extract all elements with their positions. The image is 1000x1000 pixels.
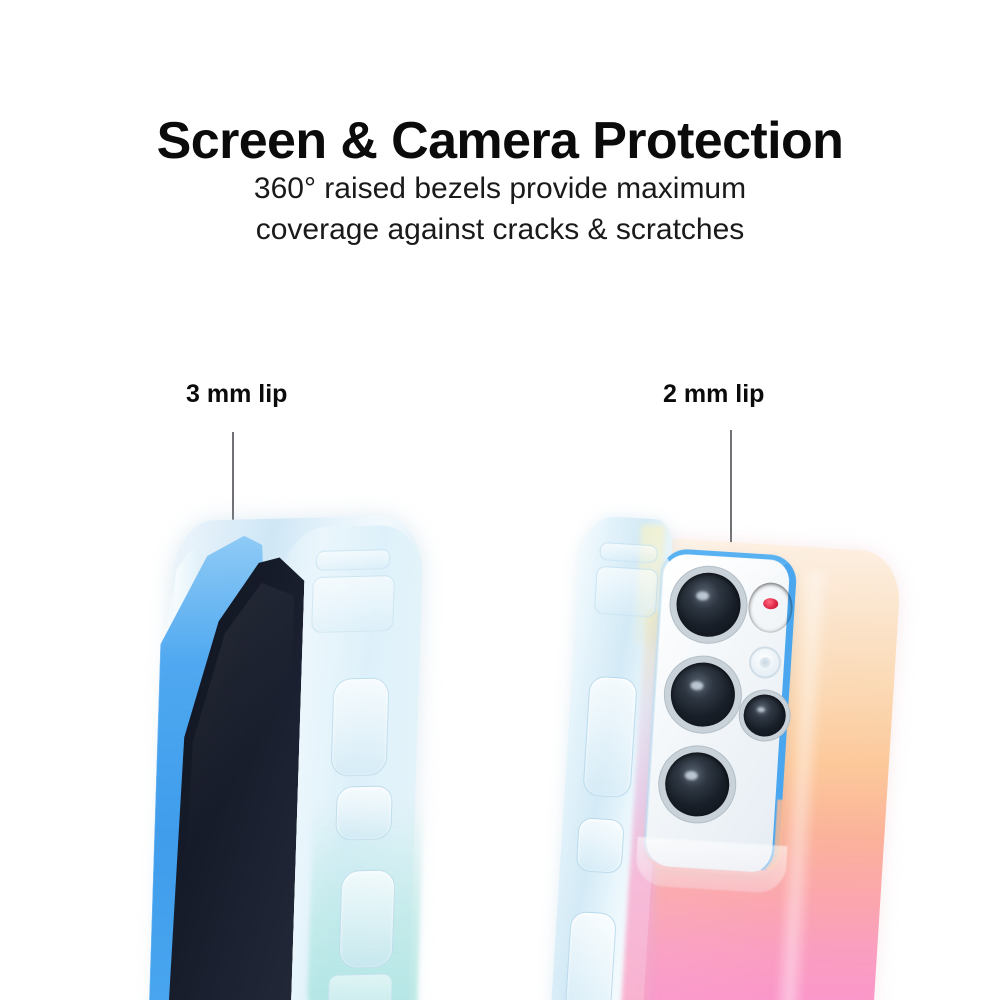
case-molded-panel-upper-right [594, 566, 659, 618]
callout-label-3mm-lip: 3 mm lip [186, 380, 287, 409]
case-power-button-cover-right [576, 817, 625, 874]
product-image-phone-rear-view [545, 498, 965, 1000]
product-feature-banner: Screen & Camera Protection 360° raised b… [0, 0, 1000, 1000]
page-subtitle-line-2: coverage against cracks & scratches [0, 209, 1000, 250]
case-volume-button-cover-left [330, 677, 389, 776]
case-side-key-cover-left [338, 869, 395, 968]
laser-autofocus-dot [763, 598, 779, 610]
case-side-key-cover-right [565, 911, 617, 1000]
case-volume-button-cover-right [582, 675, 637, 798]
case-power-button-cover-left [335, 785, 393, 840]
page-subtitle: 360° raised bezels provide maximum cover… [0, 168, 1000, 251]
case-raised-lip-over-camera [635, 837, 788, 894]
product-image-phone-edge-profile [60, 500, 480, 1000]
page-subtitle-line-1: 360° raised bezels provide maximum [0, 168, 1000, 209]
case-molded-panel-top-left [316, 549, 391, 571]
case-molded-panel-upper-left [311, 575, 395, 633]
case-molded-panel-bottom-left [327, 973, 393, 1000]
callout-label-2mm-lip: 2 mm lip [663, 380, 764, 409]
case-molded-panel-top-right [599, 542, 658, 564]
page-title: Screen & Camera Protection [0, 113, 1000, 169]
